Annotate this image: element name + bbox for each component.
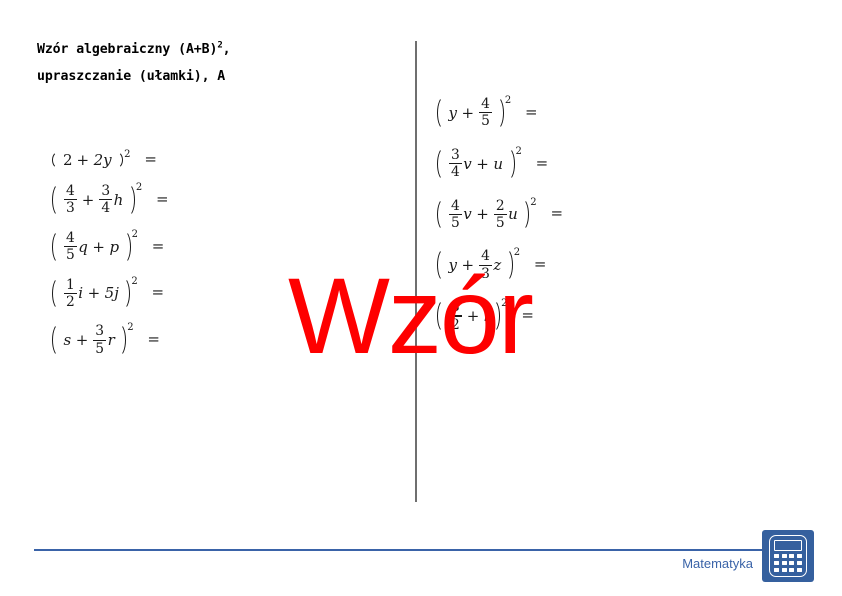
paren-left — [437, 96, 446, 130]
exponent: 2 — [505, 95, 511, 106]
exercise-column-right: y + 4 5 2 = 3 — [437, 96, 767, 350]
equals-sign: = — [512, 306, 534, 324]
variable: v — [463, 155, 472, 173]
equals-sign: = — [525, 255, 547, 273]
calculator-key — [789, 561, 794, 565]
paren-left — [52, 183, 61, 217]
paren-left — [437, 299, 446, 333]
formula-l5: s + 3 5 r 2 = — [52, 323, 382, 357]
plus-sign: + — [72, 331, 93, 349]
paren-left — [437, 147, 446, 181]
calculator-key — [789, 554, 794, 558]
fraction: 3 5 — [93, 324, 106, 356]
plus-sign: + — [457, 256, 478, 274]
paren-right — [126, 183, 135, 217]
page-title-comma: , — [223, 42, 231, 57]
plus-sign: + — [78, 191, 99, 209]
page-title-text-1: Wzór algebraiczny (A+B) — [37, 42, 217, 57]
calculator-body — [769, 535, 807, 577]
paren-right — [491, 299, 500, 333]
calculator-key — [782, 554, 787, 558]
formula-r3: 4 5 v + 2 5 u 2 = — [437, 198, 767, 232]
formula-l4: 1 2 i + 5j 2 = — [52, 277, 382, 311]
formula-l3: 4 5 q + p 2 = — [52, 230, 382, 264]
paren-right — [506, 147, 515, 181]
formula-r5: 3 2 + l 2 = — [437, 299, 767, 333]
paren-left — [437, 248, 446, 282]
exponent: 2 — [124, 149, 130, 160]
numerator: 4 — [479, 249, 492, 264]
exponent: 2 — [501, 298, 507, 309]
paren-left — [437, 198, 446, 232]
calculator-key — [797, 568, 802, 572]
exponent: 2 — [530, 197, 536, 208]
equals-sign: = — [527, 154, 549, 172]
page-title: Wzór algebraiczny (A+B)2, upraszczanie (… — [37, 36, 397, 90]
plus-sign: + — [73, 151, 94, 169]
plus-sign: + — [88, 238, 109, 256]
paren-right — [504, 248, 513, 282]
calculator-keypad — [774, 554, 802, 572]
page-title-line-1: Wzór algebraiczny (A+B)2, — [37, 36, 397, 63]
formula-l1: 2 + 2y 2 = — [52, 150, 382, 170]
paren-left — [52, 323, 61, 357]
equals-sign: = — [147, 190, 169, 208]
fraction: 2 5 — [494, 199, 507, 231]
paren-right — [121, 277, 130, 311]
paren-right — [520, 198, 529, 232]
calculator-display — [774, 540, 802, 551]
calculator-key — [789, 568, 794, 572]
plus-sign: + — [84, 284, 105, 302]
calculator-key — [774, 568, 779, 572]
calculator-icon — [762, 530, 814, 582]
paren-right — [495, 96, 504, 130]
footer-divider — [34, 549, 774, 551]
paren-right — [114, 150, 123, 170]
calculator-key — [782, 561, 787, 565]
fraction: 3 4 — [99, 184, 112, 216]
equals-sign: = — [516, 103, 538, 121]
numerator: 3 — [99, 184, 112, 199]
variable: v — [463, 205, 472, 223]
equals-sign: = — [138, 330, 160, 348]
calculator-key — [797, 561, 802, 565]
denominator: 5 — [93, 341, 106, 356]
exercise-column-left: 2 + 2y 2 = 4 3 + — [52, 150, 382, 370]
calculator-key — [774, 561, 779, 565]
paren-left — [52, 277, 61, 311]
exponent: 2 — [514, 247, 520, 258]
exponent: 2 — [127, 322, 133, 333]
equals-sign: = — [541, 204, 563, 222]
numerator: 3 — [93, 324, 106, 339]
exponent: 2 — [516, 146, 522, 157]
formula-r4: y + 4 3 z 2 = — [437, 248, 767, 282]
plus-sign: + — [463, 307, 484, 325]
plus-sign: + — [472, 155, 493, 173]
exponent: 2 — [136, 182, 142, 193]
exponent: 2 — [131, 276, 137, 287]
equals-sign: = — [143, 283, 165, 301]
denominator: 5 — [494, 215, 507, 230]
slide-page: Wzór algebraiczny (A+B)2, upraszczanie (… — [0, 0, 842, 596]
paren-left — [52, 230, 61, 264]
plus-sign: + — [457, 104, 478, 122]
footer-subject-label: Matematyka — [0, 556, 753, 571]
fraction: 4 3 — [479, 249, 492, 281]
paren-left — [52, 150, 61, 170]
paren-right — [122, 230, 131, 264]
calculator-key — [782, 568, 787, 572]
numerator: 2 — [494, 199, 507, 214]
equals-sign: = — [143, 237, 165, 255]
denominator: 3 — [479, 266, 492, 281]
formula-r1: y + 4 5 2 = — [437, 96, 767, 130]
paren-right — [117, 323, 126, 357]
denominator: 4 — [99, 200, 112, 215]
calculator-key — [797, 554, 802, 558]
exponent: 2 — [132, 229, 138, 240]
column-divider — [415, 41, 417, 502]
calculator-key — [774, 554, 779, 558]
formula-l2: 4 3 + 3 4 h 2 = — [52, 183, 382, 217]
formula-r2: 3 4 v + u 2 = — [437, 147, 767, 181]
page-title-line-2: upraszczanie (ułamki), A — [37, 63, 397, 90]
variable: q — [78, 238, 89, 256]
plus-sign: + — [472, 205, 493, 223]
equals-sign: = — [135, 150, 157, 168]
